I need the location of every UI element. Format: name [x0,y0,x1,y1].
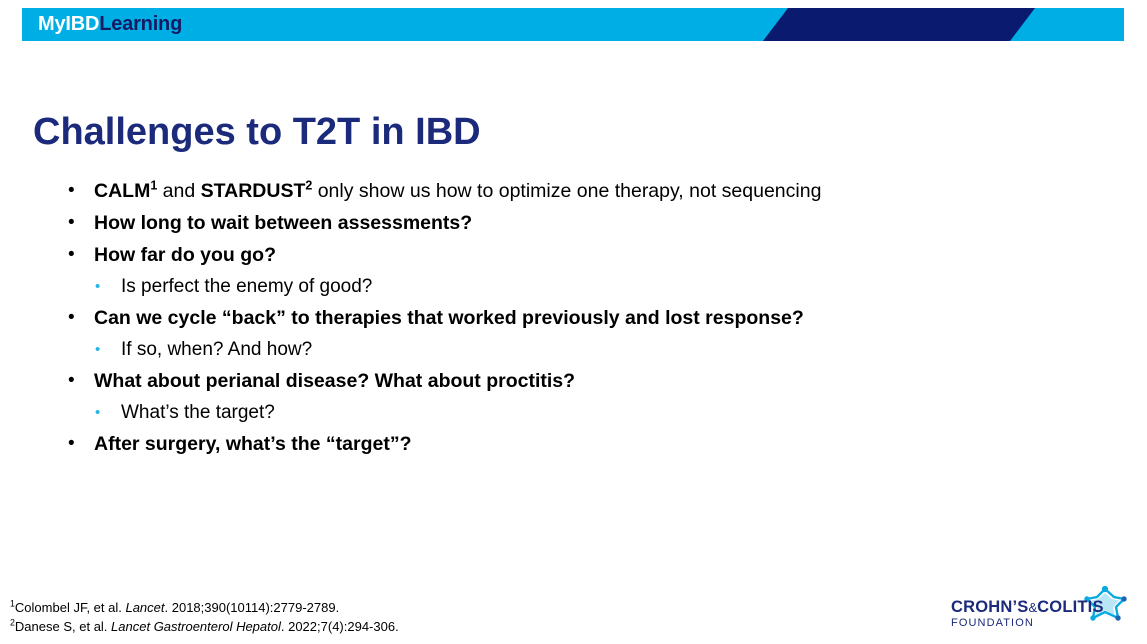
bullet-text: How far do you go? [94,239,1088,271]
header-band [22,8,1124,41]
logo-foundation-text: FOUNDATION [951,617,1104,630]
brand-my-text: MyIBD [38,13,99,35]
sub-bullet-marker-icon: • [95,397,121,428]
brand-wordmark: MyIBDLearning [38,13,182,35]
bullet-marker-icon: • [68,239,94,271]
logo-colitis-text: COLITIS [1037,598,1103,616]
footnote-citation: . 2022;7(4):294-306. [281,619,399,634]
bullet-item-5: •Can we cycle “back” to therapies that w… [68,302,1088,334]
bullet-text: After surgery, what’s the “target”? [94,428,1088,460]
bullet-marker-icon: • [68,365,94,397]
foundation-logo: CROHN’S&COLITIS FOUNDATION [939,586,1129,632]
footnote-citation: . 2018;390(10114):2779-2789. [165,600,340,615]
bullet-marker-icon: • [68,428,94,460]
bullet-item-4: •Is perfect the enemy of good? [95,271,1088,302]
bullet-item-2: •How long to wait between assessments? [68,207,1088,239]
bullet-text: How long to wait between assessments? [94,207,1088,239]
bullet-list: •CALM1 and STARDUST2 only show us how to… [68,175,1088,460]
footnote-authors: Colombel JF, et al. [15,600,126,615]
footnote-1: 1Colombel JF, et al. Lancet. 2018;390(10… [10,598,399,617]
bullet-text: What’s the target? [121,397,1088,428]
logo-text-block: CROHN’S&COLITIS FOUNDATION [951,598,1104,630]
bullet-marker-icon: • [68,207,94,239]
footnote-2: 2Danese S, et al. Lancet Gastroenterol H… [10,617,399,636]
bullet-item-3: •How far do you go? [68,239,1088,271]
logo-crohns-text: CROHN’S [951,598,1029,616]
bullet-marker-icon: • [68,302,94,334]
bullet-text: Is perfect the enemy of good? [121,271,1088,302]
bullet-item-7: •What about perianal disease? What about… [68,365,1088,397]
footnote-journal: Lancet Gastroenterol Hepatol [111,619,281,634]
logo-main-line: CROHN’S&COLITIS [951,598,1104,617]
page-title: Challenges to T2T in IBD [33,111,481,154]
brand-learning-text: Learning [99,13,182,35]
header-navy-accent-shape [22,8,1124,41]
bullet-text: CALM1 and STARDUST2 only show us how to … [94,175,1088,207]
footnote-authors: Danese S, et al. [15,619,111,634]
bullet-item-6: •If so, when? And how? [95,334,1088,365]
bullet-item-1: •CALM1 and STARDUST2 only show us how to… [68,175,1088,207]
footnotes: 1Colombel JF, et al. Lancet. 2018;390(10… [10,598,399,636]
bullet-text: What about perianal disease? What about … [94,365,1088,397]
sub-bullet-marker-icon: • [95,271,121,302]
bullet-item-8: •What’s the target? [95,397,1088,428]
bullet-marker-icon: • [68,175,94,207]
bullet-item-9: •After surgery, what’s the “target”? [68,428,1088,460]
logo-ampersand: & [1029,600,1038,615]
bullet-text: Can we cycle “back” to therapies that wo… [94,302,1088,334]
sub-bullet-marker-icon: • [95,334,121,365]
bullet-text: If so, when? And how? [121,334,1088,365]
footnote-journal: Lancet [125,600,164,615]
